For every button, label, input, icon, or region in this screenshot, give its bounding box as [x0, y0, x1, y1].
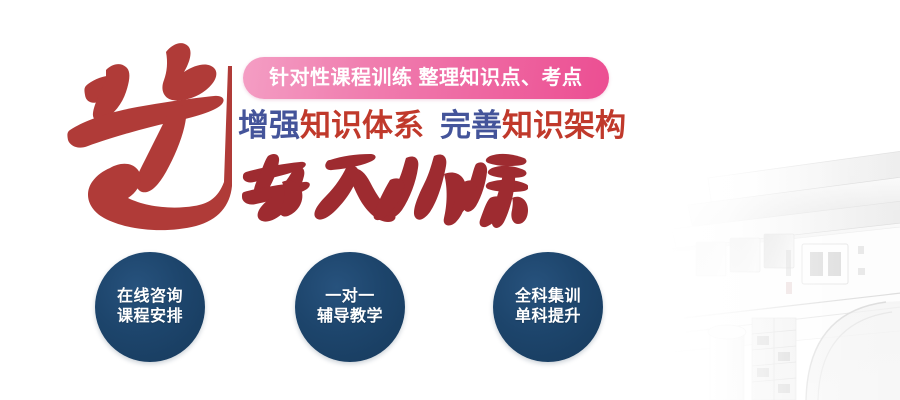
cta-circle-full-subject-line1: 全科集训 — [515, 287, 581, 307]
cta-circle-online-consult-line2: 课程安排 — [117, 307, 183, 327]
headline-segment-4: 知识架构 — [502, 108, 626, 144]
cta-circle-online-consult[interactable]: 在线咨询 课程安排 — [95, 252, 205, 362]
headline-segment-3: 完善 — [440, 108, 502, 144]
highlight-pill[interactable]: 针对性课程训练 整理知识点、考点 — [243, 57, 609, 99]
cta-circle-online-consult-line1: 在线咨询 — [117, 287, 183, 307]
cta-circle-group: 在线咨询 课程安排 一对一 辅导教学 全科集训 单科提升 — [0, 252, 900, 372]
promo-banner: 针对性课程训练 整理知识点、考点 增强 知识体系 完善 知识架构 — [0, 0, 900, 400]
headline-segment-1: 增强 — [238, 108, 300, 144]
headline: 增强 知识体系 完善 知识架构 — [238, 108, 626, 144]
cta-circle-full-subject-line2: 单科提升 — [515, 307, 581, 327]
brush-character-yi — [48, 22, 248, 237]
cta-circle-one-on-one-line1: 一对一 — [325, 287, 375, 307]
cta-circle-one-on-one-line2: 辅导教学 — [317, 307, 383, 327]
cta-circle-full-subject[interactable]: 全科集训 单科提升 — [493, 252, 603, 362]
cta-circle-one-on-one[interactable]: 一对一 辅导教学 — [295, 252, 405, 362]
pill-label: 针对性课程训练 整理知识点、考点 — [269, 68, 583, 88]
calligraphy-kaowenhuake — [238, 152, 528, 230]
headline-segment-2: 知识体系 — [300, 108, 424, 144]
